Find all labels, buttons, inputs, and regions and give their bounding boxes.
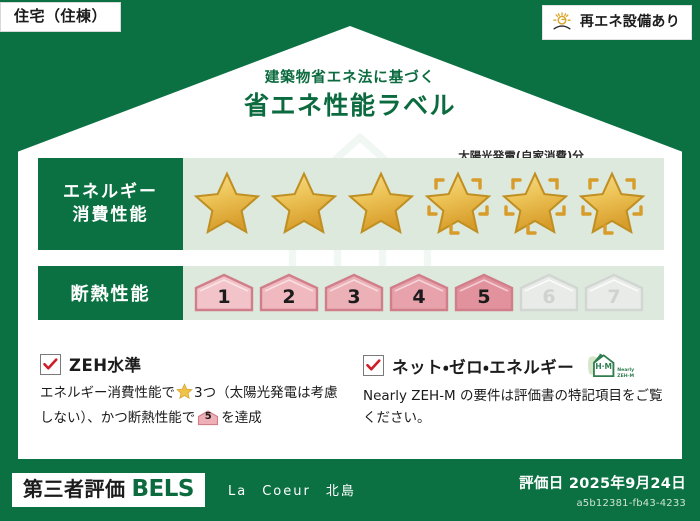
star-icon xyxy=(189,167,265,241)
zeh-standard-block: ZEH水準 エネルギー消費性能で3つ（太陽光発電は考慮しない）、かつ断熱性能で5… xyxy=(40,352,340,430)
bels-badge-jp: 第三者評価 xyxy=(23,479,126,499)
energy-key-line1: エネルギー xyxy=(63,181,158,204)
zeh-standard-body: エネルギー消費性能で3つ（太陽光発電は考慮しない）、かつ断熱性能で5を達成 xyxy=(40,383,340,430)
net-zero-energy-block: ネット・ゼロ・エネルギー H·M Nearly ZEH-M Nearly ZEH… xyxy=(363,352,668,430)
dwelling-type-tag: 住宅（住棟） xyxy=(0,2,121,32)
net-zero-energy-header: ネット・ゼロ・エネルギー H·M Nearly ZEH-M xyxy=(363,352,668,379)
star-icon-solar xyxy=(420,167,496,241)
renewable-energy-badge: 再エネ設備あり xyxy=(542,5,692,40)
insulation-level-number: 3 xyxy=(347,286,360,313)
insulation-level-6: 6 xyxy=(518,273,580,313)
insulation-level-inline-icon: 5 xyxy=(197,410,219,426)
star-icon-solar xyxy=(497,167,573,241)
insulation-level-1: 1 xyxy=(193,273,255,313)
label-subtitle: 建築物省エネ法に基づく xyxy=(0,66,700,87)
zeh-m-logo-caption: Nearly ZEH-M xyxy=(617,368,634,379)
star-glyph xyxy=(268,169,340,239)
star-glyph xyxy=(422,169,494,239)
insulation-level-3: 3 xyxy=(323,273,385,313)
energy-performance-stars xyxy=(183,158,664,250)
label-title: 省エネ性能ラベル xyxy=(0,86,700,122)
zeh-standard-title: ZEH水準 xyxy=(69,352,142,376)
zeh-body-part3: を達成 xyxy=(221,410,262,426)
energy-key-line2: 消費性能 xyxy=(73,204,149,227)
svg-text:H·M: H·M xyxy=(596,362,613,371)
renewable-badge-label: 再エネ設備あり xyxy=(580,15,680,29)
star-glyph xyxy=(576,169,648,239)
insulation-performance-levels: 1234567 xyxy=(183,266,664,320)
checkbox-checked-icon xyxy=(40,354,61,375)
insulation-level-number: 1 xyxy=(217,286,230,313)
zeh-m-caption-line1: Nearly xyxy=(617,368,634,373)
insulation-level-number: 7 xyxy=(607,286,620,313)
insulation-level-4: 4 xyxy=(388,273,450,313)
checkbox-checked-icon xyxy=(363,355,384,376)
net-zero-energy-title: ネット・ゼロ・エネルギー xyxy=(392,354,574,378)
insulation-level-5: 5 xyxy=(453,273,515,313)
insulation-level-number: 6 xyxy=(542,286,555,313)
sun-icon xyxy=(551,11,573,33)
insulation-level-number: 5 xyxy=(477,286,490,313)
insulation-level-number: 4 xyxy=(412,286,425,313)
evaluation-date: 評価日 2025年9月24日 xyxy=(519,472,686,493)
insulation-performance-key: 断熱性能 xyxy=(38,266,183,320)
insulation-level-7: 7 xyxy=(583,273,645,313)
star-icon xyxy=(266,167,342,241)
star-icon xyxy=(176,383,193,408)
star-icon-solar xyxy=(574,167,650,241)
star-icon xyxy=(343,167,419,241)
building-name: La Coeur 北島 xyxy=(228,480,356,499)
zeh-standard-header: ZEH水準 xyxy=(40,352,340,376)
evaluation-id: a5b12381-fb43-4233 xyxy=(576,498,686,509)
insulation-level-number: 2 xyxy=(282,286,295,313)
energy-performance-label: 住宅（住棟） 再エネ設備あり 建築物省エネ法に基づく 省エネ性能ラベル 太陽光発… xyxy=(0,0,700,521)
net-zero-energy-body: Nearly ZEH-M の要件は評価書の特記項目をご覧ください。 xyxy=(363,386,668,430)
zeh-body-part1: エネルギー消費性能で xyxy=(40,385,175,401)
insulation-level-2: 2 xyxy=(258,273,320,313)
energy-performance-key: エネルギー 消費性能 xyxy=(38,158,183,250)
bels-badge-en: BELS xyxy=(132,478,194,501)
star-glyph xyxy=(499,169,571,239)
star-glyph xyxy=(345,169,417,239)
zeh-m-caption-line2: ZEH-M xyxy=(617,374,634,379)
energy-performance-row: エネルギー 消費性能 xyxy=(38,158,664,250)
star-glyph xyxy=(191,169,263,239)
inline-house-number: 5 xyxy=(197,410,219,426)
insulation-performance-row: 断熱性能 1234567 xyxy=(38,266,664,320)
zeh-m-logo: H·M Nearly ZEH-M xyxy=(586,352,634,379)
bels-badge: 第三者評価 BELS xyxy=(12,473,205,507)
label-footer: 第三者評価 BELS La Coeur 北島 評価日 2025年9月24日 a5… xyxy=(0,459,700,521)
